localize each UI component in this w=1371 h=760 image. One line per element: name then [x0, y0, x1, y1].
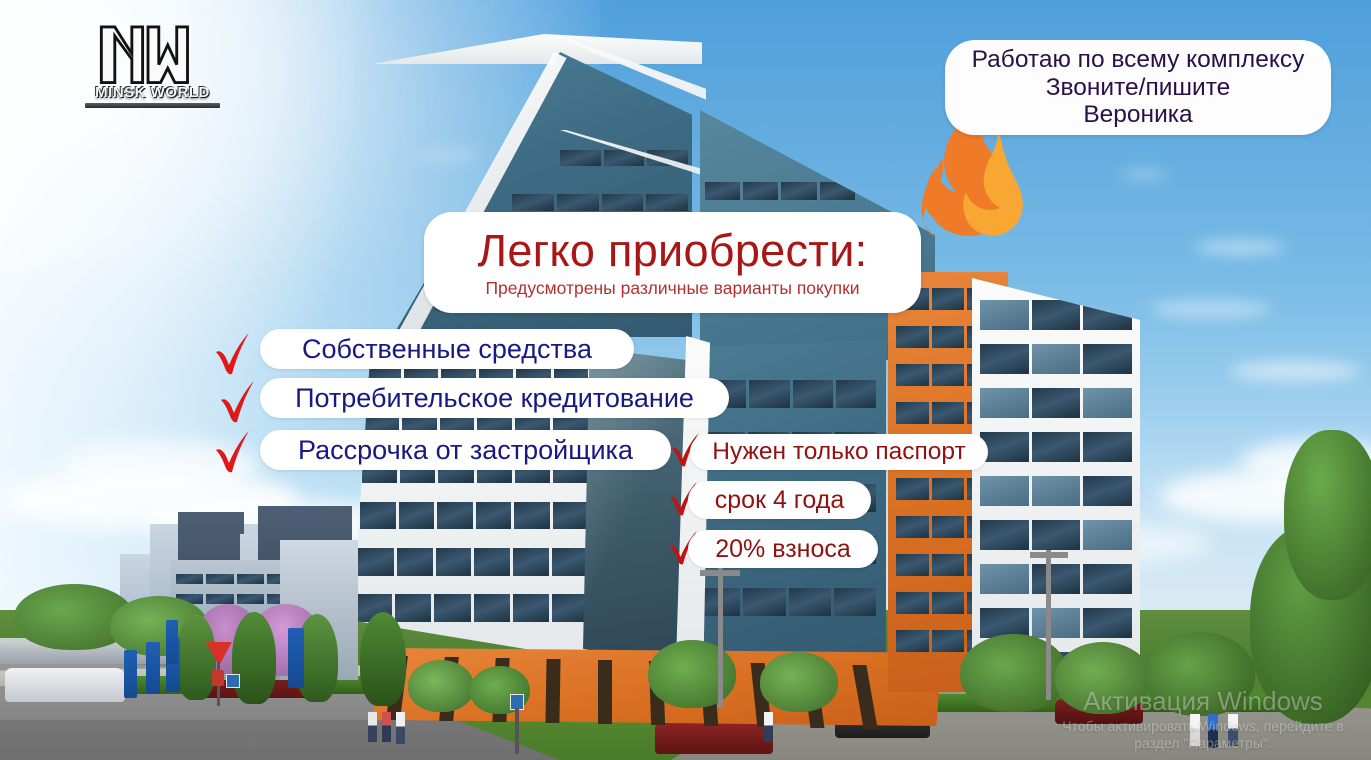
crosswalk-sign	[226, 674, 240, 688]
lamp-post	[718, 568, 723, 708]
contact-line-1: Работаю по всему комплексу	[972, 46, 1305, 73]
street-banner	[288, 628, 304, 688]
payment-option-pill[interactable]: Потребительское кредитование	[260, 378, 729, 418]
tree	[408, 660, 474, 712]
cloud	[1150, 300, 1270, 318]
installment-term-pill[interactable]: 20% взноса	[688, 530, 878, 568]
street-banner	[166, 620, 178, 664]
header-callout: Легко приобрести: Предусмотрены различны…	[424, 212, 921, 313]
person	[382, 712, 391, 742]
tree-large	[1284, 430, 1371, 600]
contact-line-3: Вероника	[1083, 101, 1192, 128]
person	[764, 712, 773, 742]
installment-term-label: Нужен только паспорт	[712, 438, 965, 466]
page-title: Легко приобрести:	[478, 228, 868, 273]
logo-underbar	[85, 103, 220, 108]
person	[1190, 714, 1200, 746]
page-subtitle: Предусмотрены различные варианты покупки	[485, 280, 859, 298]
street-banner	[146, 642, 160, 694]
street-banner	[124, 650, 137, 698]
cloud	[1120, 170, 1168, 179]
payment-option-label: Собственные средства	[302, 334, 592, 365]
installment-term-pill[interactable]: Нужен только паспорт	[690, 434, 988, 470]
cloud	[420, 150, 480, 160]
contact-line-2: Звоните/пишите	[1046, 74, 1231, 101]
cloud	[1230, 360, 1360, 382]
lamp-arm	[700, 570, 740, 576]
person	[1208, 714, 1218, 748]
person	[368, 712, 377, 742]
payment-option-pill[interactable]: Рассрочка от застройщика	[260, 430, 671, 470]
installment-term-label: 20% взноса	[715, 535, 851, 564]
lamp-arm	[1030, 552, 1068, 558]
tree	[760, 652, 838, 712]
car	[655, 722, 773, 754]
lamp-post	[1046, 550, 1051, 700]
installment-term-pill[interactable]: срок 4 года	[688, 481, 871, 519]
payment-option-pill[interactable]: Собственные средства	[260, 329, 634, 369]
brand-logo: MINSK WORLD	[85, 18, 220, 116]
person	[1228, 714, 1238, 746]
payment-option-label: Рассрочка от застройщика	[298, 435, 633, 466]
payment-option-label: Потребительское кредитование	[295, 383, 694, 414]
tree	[1145, 632, 1255, 716]
installment-term-label: срок 4 года	[715, 486, 844, 515]
traffic-light	[212, 670, 224, 686]
person	[396, 712, 405, 744]
car	[5, 668, 125, 702]
contact-callout[interactable]: Работаю по всему комплексу Звоните/пишит…	[945, 40, 1331, 135]
sign-pole	[515, 708, 519, 754]
tree	[960, 634, 1068, 712]
tree-conifer	[360, 612, 406, 706]
logo-wordmark: MINSK WORLD	[85, 84, 220, 101]
mw-monogram-icon	[85, 18, 220, 88]
slide-canvas: MINSK WORLD Работаю по всему комплексу З…	[0, 0, 1371, 760]
tree-conifer	[232, 612, 276, 704]
cloud	[1195, 240, 1285, 255]
tree	[1055, 642, 1151, 714]
